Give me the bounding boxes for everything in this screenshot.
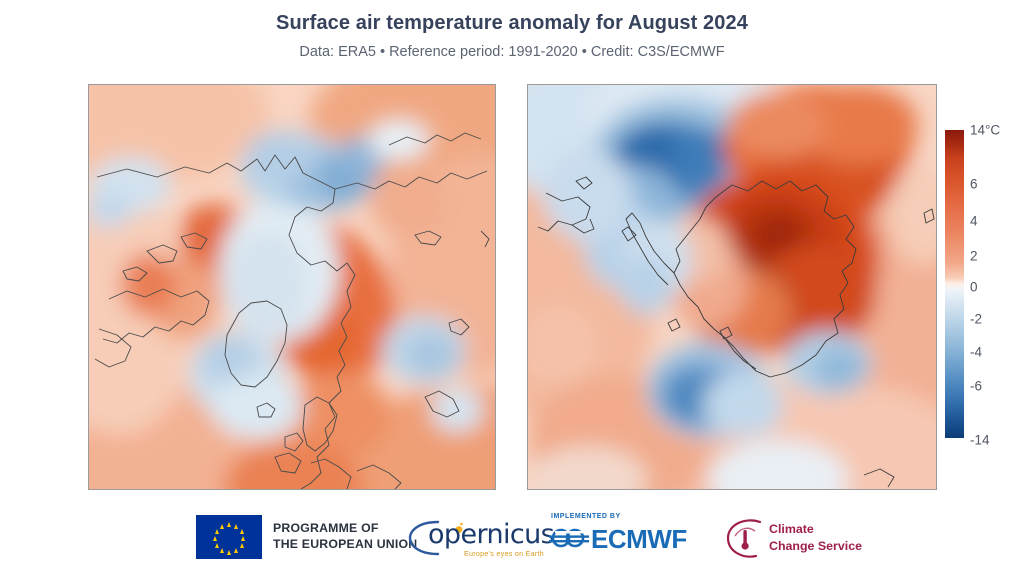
colorbar-tick-6: 6 — [970, 178, 978, 192]
copernicus-wordmark: opernicus — [428, 519, 554, 550]
eu-flag-icon — [196, 515, 262, 559]
ecmwf-mark-icon — [549, 526, 589, 550]
colorbar: 14°C 6 4 2 0 -2 -4 -6 -14 — [945, 130, 1024, 440]
colorbar-gradient — [945, 130, 964, 438]
colorbar-tick-14: 14°C — [970, 123, 1000, 137]
southern-hemisphere-map[interactable] — [527, 84, 937, 490]
colorbar-tick-neg6: -6 — [970, 379, 982, 393]
logo-ecmwf: IMPLEMENTED BY ECMWF — [549, 513, 697, 559]
logo-copernicus: opernicus Europe's eyes on Earth — [404, 517, 544, 559]
copernicus-tagline: Europe's eyes on Earth — [464, 549, 544, 558]
page-subtitle: Data: ERA5 • Reference period: 1991-2020… — [0, 44, 1024, 60]
eu-logo-label: PROGRAMME OF THE EUROPEAN UNION — [273, 521, 417, 552]
colorbar-tick-neg14: -14 — [970, 433, 990, 447]
footer-logo-bar: PROGRAMME OF THE EUROPEAN UNION opernicu… — [0, 505, 1024, 567]
colorbar-tick-neg4: -4 — [970, 345, 982, 359]
logo-climate-change-service: Climate Change Service — [722, 517, 892, 559]
south-polar-heatmap — [528, 85, 936, 489]
north-polar-heatmap — [89, 85, 495, 489]
c3s-thermometer-icon — [722, 517, 766, 559]
logo-european-union: PROGRAMME OF THE EUROPEAN UNION — [196, 515, 417, 559]
northern-hemisphere-map[interactable] — [88, 84, 496, 490]
c3s-logo-label: Climate Change Service — [769, 521, 862, 554]
colorbar-tick-4: 4 — [970, 215, 978, 229]
page-title: Surface air temperature anomaly for Augu… — [0, 12, 1024, 35]
colorbar-tick-2: 2 — [970, 249, 978, 263]
colorbar-tick-0: 0 — [970, 280, 978, 294]
colorbar-tick-neg2: -2 — [970, 312, 982, 326]
climate-anomaly-figure: Surface air temperature anomaly for Augu… — [0, 0, 1024, 572]
ecmwf-wordmark: ECMWF — [591, 524, 687, 555]
ecmwf-eyebrow-label: IMPLEMENTED BY — [551, 513, 621, 520]
